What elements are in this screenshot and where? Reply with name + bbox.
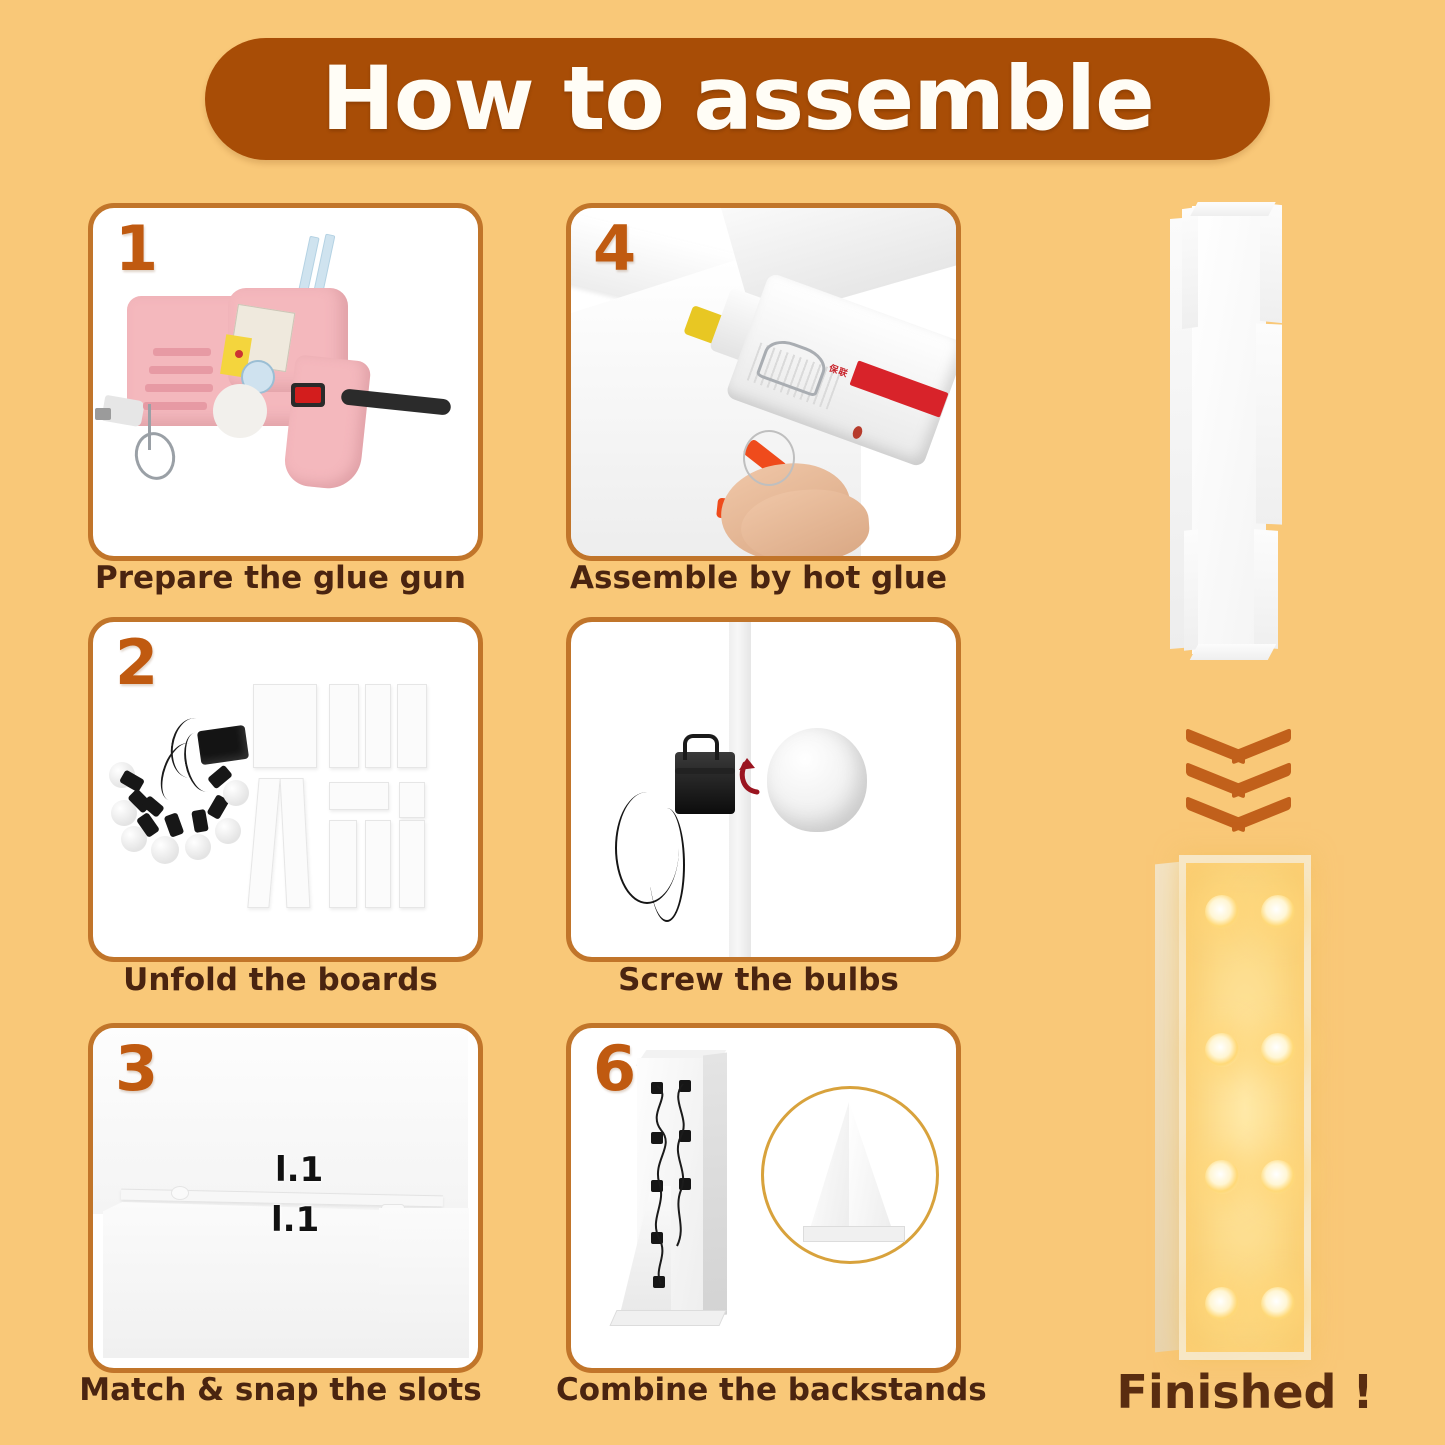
screw-bulbs-illustration	[571, 622, 956, 957]
slot-label-upper: l.1	[275, 1150, 323, 1190]
step-caption-3: Match & snap the slots	[68, 1372, 493, 1408]
marquee-bulb	[1205, 1287, 1239, 1321]
step-panel-4: 4 保联	[566, 203, 961, 561]
step-panel-6: 6	[566, 1023, 961, 1373]
chevron-down-icon	[1186, 793, 1291, 819]
step-number-3: 3	[115, 1038, 158, 1100]
step-caption-5: Screw the bulbs	[566, 962, 951, 998]
step-number-6: 6	[593, 1038, 636, 1100]
chevron-down-icon	[1186, 759, 1291, 785]
marquee-bulb	[1261, 1033, 1295, 1067]
marquee-bulb	[1205, 895, 1239, 929]
marquee-bulb	[1261, 895, 1295, 929]
marquee-bulb	[1205, 1033, 1239, 1067]
step-panel-2: 2	[88, 617, 483, 962]
step-caption-4: Assemble by hot glue	[566, 560, 951, 596]
step-panel-3: 3 l.1 l.1	[88, 1023, 483, 1373]
page-title: How to assemble	[321, 55, 1154, 143]
step-caption-1: Prepare the glue gun	[88, 560, 473, 596]
unlit-product-illustration	[1170, 200, 1300, 665]
step-number-4: 4	[593, 218, 636, 280]
marquee-bulb	[1261, 1287, 1295, 1321]
step-caption-6: Combine the backstands	[556, 1372, 961, 1408]
page-title-banner: How to assemble	[205, 38, 1270, 160]
lit-product-illustration	[1155, 855, 1325, 1360]
step-caption-2: Unfold the boards	[88, 962, 473, 998]
marquee-bulb	[1205, 1160, 1239, 1194]
chevron-down-icon	[1186, 725, 1291, 751]
step-number-2: 2	[115, 632, 158, 694]
slot-label-lower: l.1	[271, 1200, 319, 1240]
down-arrows	[1186, 725, 1291, 825]
finished-label: Finished !	[1075, 1365, 1415, 1419]
rotate-arrow-icon	[735, 754, 779, 800]
step-panel-1: 1	[88, 203, 483, 561]
step-panel-5	[566, 617, 961, 962]
marquee-bulb	[1261, 1160, 1295, 1194]
step-number-1: 1	[115, 218, 158, 280]
